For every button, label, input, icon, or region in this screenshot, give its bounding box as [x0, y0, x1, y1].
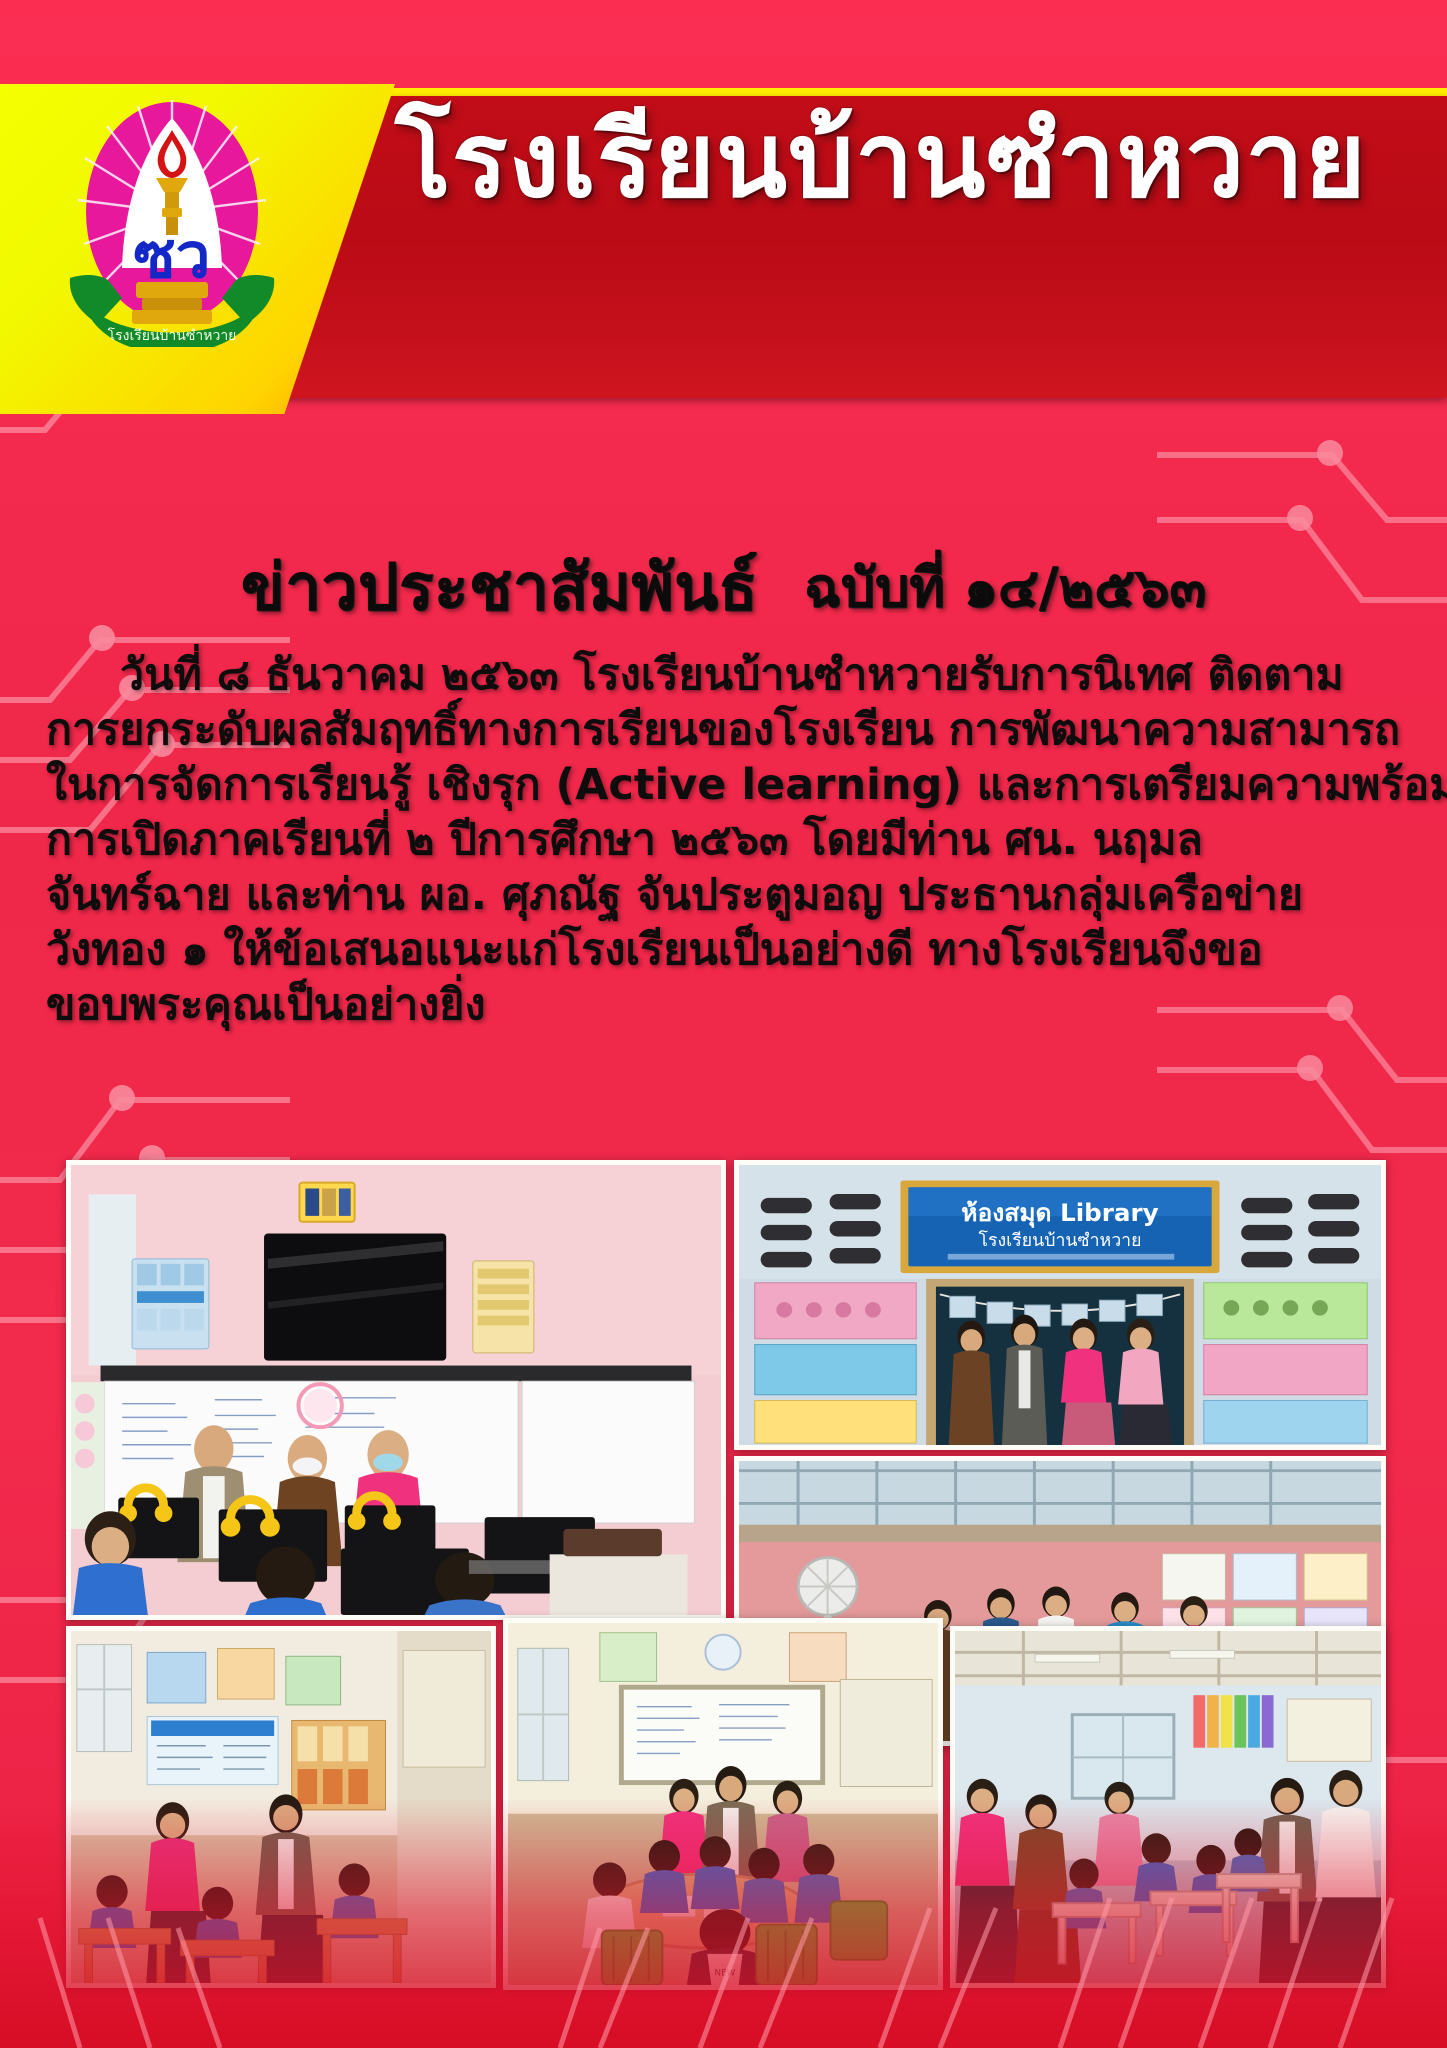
body-line: การยกระดับผลสัมฤทธิ์ทางการเรียนของโรงเรี… [46, 703, 1416, 758]
school-logo-icon: ซว โรงเรียนบ้านซำหวาย [52, 92, 292, 347]
school-name-title: โรงเรียนบ้านซำหวาย [395, 108, 1405, 212]
headline-row: ข่าวประชาสัมพันธ์ฉบับที่ ๑๔/๒๕๖๓ [0, 536, 1447, 638]
body-line: จันทร์ฉาย และท่าน ผอ. ศุภณัฐ จันประตูมอญ… [46, 868, 1416, 923]
svg-text:NEW: NEW [715, 1968, 736, 1978]
poster-page: ซว โรงเรียนบ้านซำหวาย โรงเรียนบ้านซำหวาย… [0, 0, 1447, 2048]
library-sign-line1: ห้องสมุด Library [961, 1198, 1158, 1229]
photo-computer-lab [66, 1160, 726, 1620]
svg-text:ซว: ซว [134, 219, 211, 292]
photo-classroom-visit-1 [66, 1626, 496, 1988]
photo-library-entrance: ห้องสมุด Library โรงเรียนบ้านซำหวาย [734, 1160, 1386, 1450]
photo-active-learning-group: NEW [503, 1618, 943, 1990]
library-sign-line2: โรงเรียนบ้านซำหวาย [979, 1230, 1142, 1251]
headline-title: ข่าวประชาสัมพันธ์ [241, 551, 758, 625]
photo-collage: ห้องสมุด Library โรงเรียนบ้านซำหวาย [66, 1160, 1386, 1990]
body-line: วันที่ ๘ ธันวาคม ๒๕๖๓ โรงเรียนบ้านซำหวาย… [46, 648, 1416, 703]
body-line: การเปิดภาคเรียนที่ ๒ ปีการศึกษา ๒๕๖๓ โดย… [46, 813, 1416, 868]
announcement-body: วันที่ ๘ ธันวาคม ๒๕๖๓ โรงเรียนบ้านซำหวาย… [46, 648, 1416, 1033]
svg-text:โรงเรียนบ้านซำหวาย: โรงเรียนบ้านซำหวาย [108, 327, 237, 344]
headline-issue-number: ฉบับที่ ๑๔/๒๕๖๓ [804, 556, 1206, 619]
body-line: ในการจัดการเรียนรู้ เชิงรุก (Active lear… [46, 758, 1416, 813]
body-line: วังทอง ๑ ให้ข้อเสนอแนะแก่โรงเรียนเป็นอย่… [46, 923, 1416, 978]
photo-classroom-visit-2 [950, 1626, 1386, 1988]
body-line: ขอบพระคุณเป็นอย่างยิ่ง [46, 978, 1416, 1033]
